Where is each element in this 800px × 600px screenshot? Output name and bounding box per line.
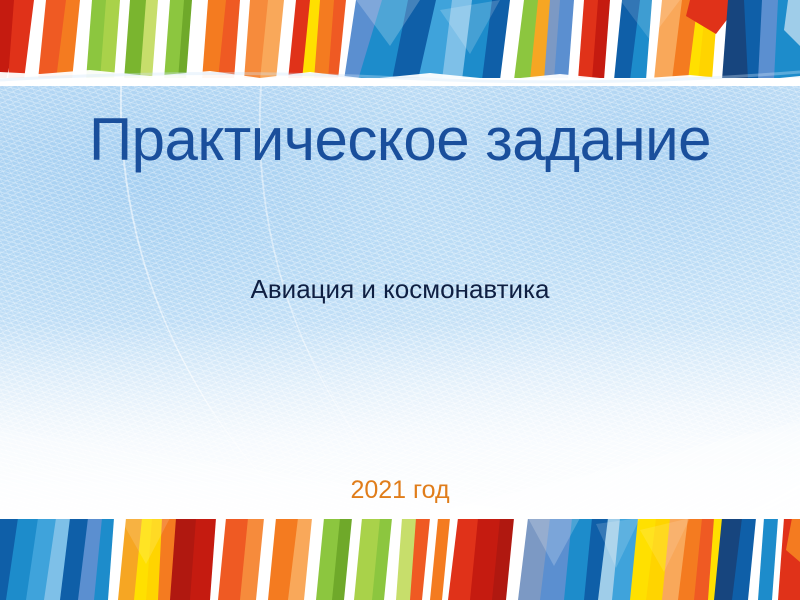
top-band-graphic [0, 0, 800, 86]
bottom-band-graphic [0, 510, 800, 600]
slide-subtitle: Авиация и космонавтика [0, 274, 800, 305]
slide-year: 2021 год [0, 476, 800, 505]
slide-title: Практическое задание [0, 108, 800, 171]
bottom-decorative-band [0, 510, 800, 600]
presentation-slide: Практическое задание Авиация и космонавт… [0, 0, 800, 600]
top-decorative-band [0, 0, 800, 86]
